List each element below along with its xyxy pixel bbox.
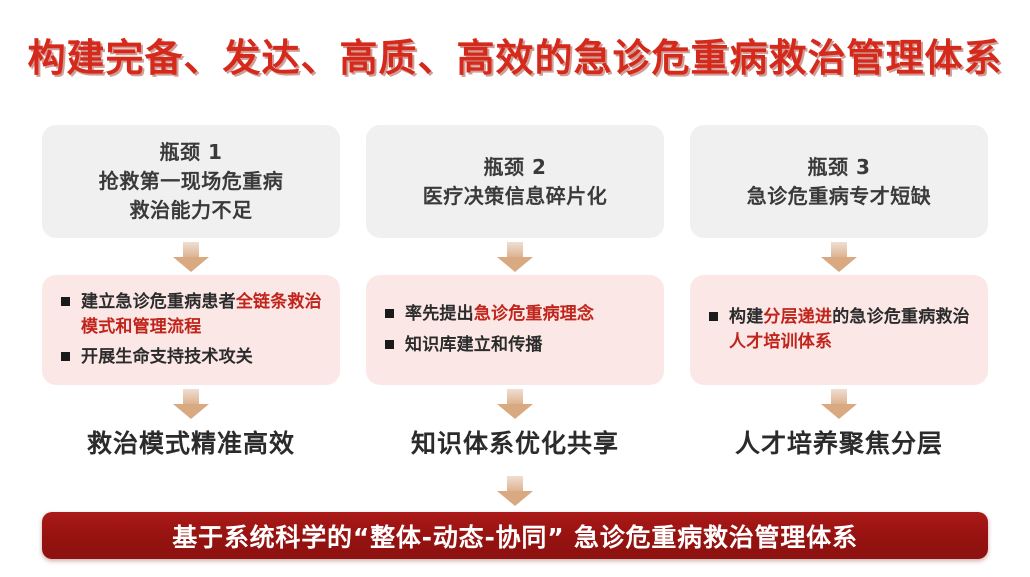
conclusion-banner: 基于系统科学的“整体-动态-协同” 急诊危重病救治管理体系 [42, 512, 988, 559]
bottleneck-desc-1-line2: 救治能力不足 [130, 196, 253, 225]
action-box-2: 率先提出急诊危重病理念 知识库建立和传播 [366, 275, 664, 385]
square-bullet-icon [709, 312, 718, 321]
bullet-text-1-2: 开展生命支持技术攻关 [81, 345, 253, 370]
column-bottleneck-3: 瓶颈 3 急诊危重病专才短缺 构建分层递进的急诊危重病救治人才培训体系 人才培养… [690, 125, 988, 460]
list-item: 知识库建立和传播 [376, 333, 650, 358]
bottleneck-box-3: 瓶颈 3 急诊危重病专才短缺 [690, 125, 988, 238]
bottleneck-label-2: 瓶颈 2 [484, 153, 547, 182]
list-item: 构建分层递进的急诊危重病救治人才培训体系 [700, 305, 974, 354]
highlighted-text: 分层递进 [763, 307, 832, 327]
action-box-3: 构建分层递进的急诊危重病救治人才培训体系 [690, 275, 988, 385]
square-bullet-icon [61, 352, 70, 361]
highlighted-text: 人才培训体系 [729, 332, 832, 352]
square-bullet-icon [61, 297, 70, 306]
highlighted-text: 急诊危重病理念 [474, 304, 594, 324]
bottleneck-desc-1-line1: 抢救第一现场危重病 [99, 167, 284, 196]
list-item: 率先提出急诊危重病理念 [376, 302, 650, 327]
list-item: 建立急诊危重病患者全链条救治模式和管理流程 [52, 290, 326, 339]
outcome-text-2: 知识体系优化共享 [411, 424, 619, 460]
down-arrow-icon-5 [821, 242, 857, 272]
bottleneck-label-3: 瓶颈 3 [808, 153, 871, 182]
bottleneck-box-1: 瓶颈 1 抢救第一现场危重病 救治能力不足 [42, 125, 340, 238]
down-arrow-icon-6 [821, 389, 857, 419]
bottleneck-label-1: 瓶颈 1 [160, 138, 223, 167]
plain-text: 建立急诊危重病患者 [81, 292, 236, 312]
plain-text: 知识库建立和传播 [405, 335, 543, 355]
column-bottleneck-2: 瓶颈 2 医疗决策信息碎片化 率先提出急诊危重病理念 知识库建立和传播 知识体系… [366, 125, 664, 460]
plain-text: 的急诊危重病救治 [832, 307, 970, 327]
action-box-1: 建立急诊危重病患者全链条救治模式和管理流程 开展生命支持技术攻关 [42, 275, 340, 385]
page-title: 构建完备、发达、高质、高效的急诊危重病救治管理体系 [0, 27, 1030, 82]
plain-text: 率先提出 [405, 304, 474, 324]
bottleneck-desc-2-line1: 医疗决策信息碎片化 [423, 182, 608, 211]
outcome-text-3: 人才培养聚焦分层 [735, 424, 943, 460]
bottleneck-box-2: 瓶颈 2 医疗决策信息碎片化 [366, 125, 664, 238]
final-arrow-container [0, 472, 1030, 509]
bullet-text-2-2: 知识库建立和传播 [405, 333, 543, 358]
square-bullet-icon [385, 309, 394, 318]
columns-container: 瓶颈 1 抢救第一现场危重病 救治能力不足 建立急诊危重病患者全链条救治模式和管… [42, 125, 988, 460]
outcome-text-1: 救治模式精准高效 [87, 424, 295, 460]
down-arrow-icon-1 [173, 242, 209, 272]
down-arrow-icon-4 [497, 389, 533, 419]
bullet-text-1-1: 建立急诊危重病患者全链条救治模式和管理流程 [81, 290, 326, 339]
bottleneck-desc-3-line1: 急诊危重病专才短缺 [747, 182, 932, 211]
down-arrow-icon-3 [497, 242, 533, 272]
plain-text: 构建 [729, 307, 763, 327]
square-bullet-icon [385, 340, 394, 349]
down-arrow-icon-2 [173, 389, 209, 419]
bullet-text-2-1: 率先提出急诊危重病理念 [405, 302, 594, 327]
plain-text: 开展生命支持技术攻关 [81, 347, 253, 367]
down-arrow-icon-final [497, 476, 533, 506]
bullet-text-3-1: 构建分层递进的急诊危重病救治人才培训体系 [729, 305, 974, 354]
column-bottleneck-1: 瓶颈 1 抢救第一现场危重病 救治能力不足 建立急诊危重病患者全链条救治模式和管… [42, 125, 340, 460]
list-item: 开展生命支持技术攻关 [52, 345, 326, 370]
